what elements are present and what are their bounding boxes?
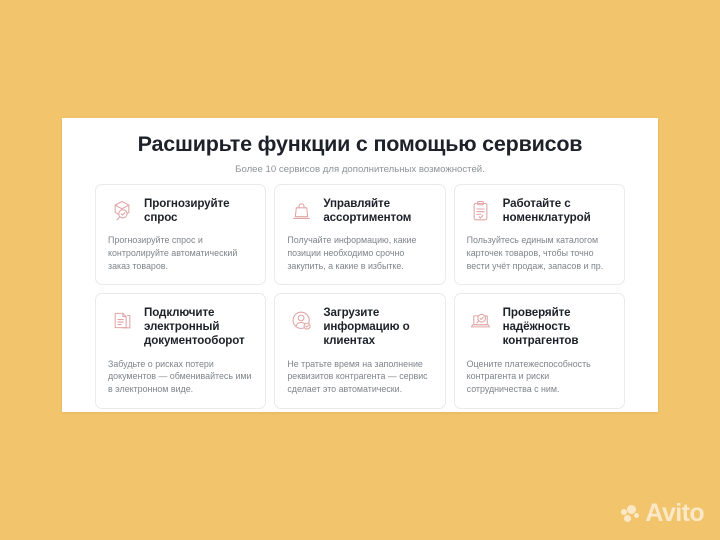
feature-card[interactable]: Управляйте ассортиментом Получайте инфор… [274, 184, 445, 285]
feature-card[interactable]: Подключите электронный документооборот З… [95, 293, 266, 408]
card-title: Работайте с номенклатурой [503, 196, 612, 225]
content-panel: Расширьте функции с помощью сервисов Бол… [62, 118, 658, 412]
feature-card[interactable]: Работайте с номенклатурой Пользуйтесь ед… [454, 184, 625, 285]
clipboard-check-icon [467, 197, 495, 225]
feature-card[interactable]: Проверяйте надёжность контрагентов Оцени… [454, 293, 625, 408]
feature-card[interactable]: Загрузите информацию о клиентах Не трать… [274, 293, 445, 408]
card-body: Прогнозируйте спрос и контролируйте авто… [108, 234, 253, 272]
feature-card[interactable]: Прогнозируйте спрос Прогнозируйте спрос … [95, 184, 266, 285]
card-body: Забудьте о рисках потери документов — об… [108, 358, 253, 396]
page-subtitle: Более 10 сервисов для дополнительных воз… [82, 164, 638, 176]
card-header: Загрузите информацию о клиентах [287, 305, 432, 348]
user-circle-check-icon [287, 306, 315, 334]
card-body: Пользуйтесь единым каталогом карточек то… [467, 234, 612, 272]
card-title: Прогнозируйте спрос [144, 196, 253, 225]
promo-banner: Расширьте функции с помощью сервисов Бол… [0, 0, 720, 540]
card-header: Работайте с номенклатурой [467, 196, 612, 225]
shopping-bag-icon [287, 197, 315, 225]
card-body: Получайте информацию, какие позиции необ… [287, 234, 432, 272]
feature-card-grid: Прогнозируйте спрос Прогнозируйте спрос … [95, 184, 625, 409]
card-title: Управляйте ассортиментом [323, 196, 432, 225]
card-header: Управляйте ассортиментом [287, 196, 432, 225]
card-title: Проверяйте надёжность контрагентов [503, 305, 612, 348]
avito-watermark: Avito [621, 501, 704, 526]
card-body: Не тратьте время на заполнение реквизито… [287, 358, 432, 396]
card-header: Проверяйте надёжность контрагентов [467, 305, 612, 348]
box-magnifier-icon [108, 197, 136, 225]
laptop-check-icon [467, 306, 495, 334]
page-title: Расширьте функции с помощью сервисов [82, 132, 638, 157]
card-title: Загрузите информацию о клиентах [323, 305, 432, 348]
panel-header: Расширьте функции с помощью сервисов Бол… [62, 118, 658, 176]
card-header: Прогнозируйте спрос [108, 196, 253, 225]
card-body: Оцените платежеспособность контрагента и… [467, 358, 612, 396]
card-header: Подключите электронный документооборот [108, 305, 253, 348]
avito-wordmark: Avito [645, 501, 704, 526]
avito-logo-icon [621, 505, 640, 522]
documents-stack-icon [108, 306, 136, 334]
card-title: Подключите электронный документооборот [144, 305, 253, 348]
